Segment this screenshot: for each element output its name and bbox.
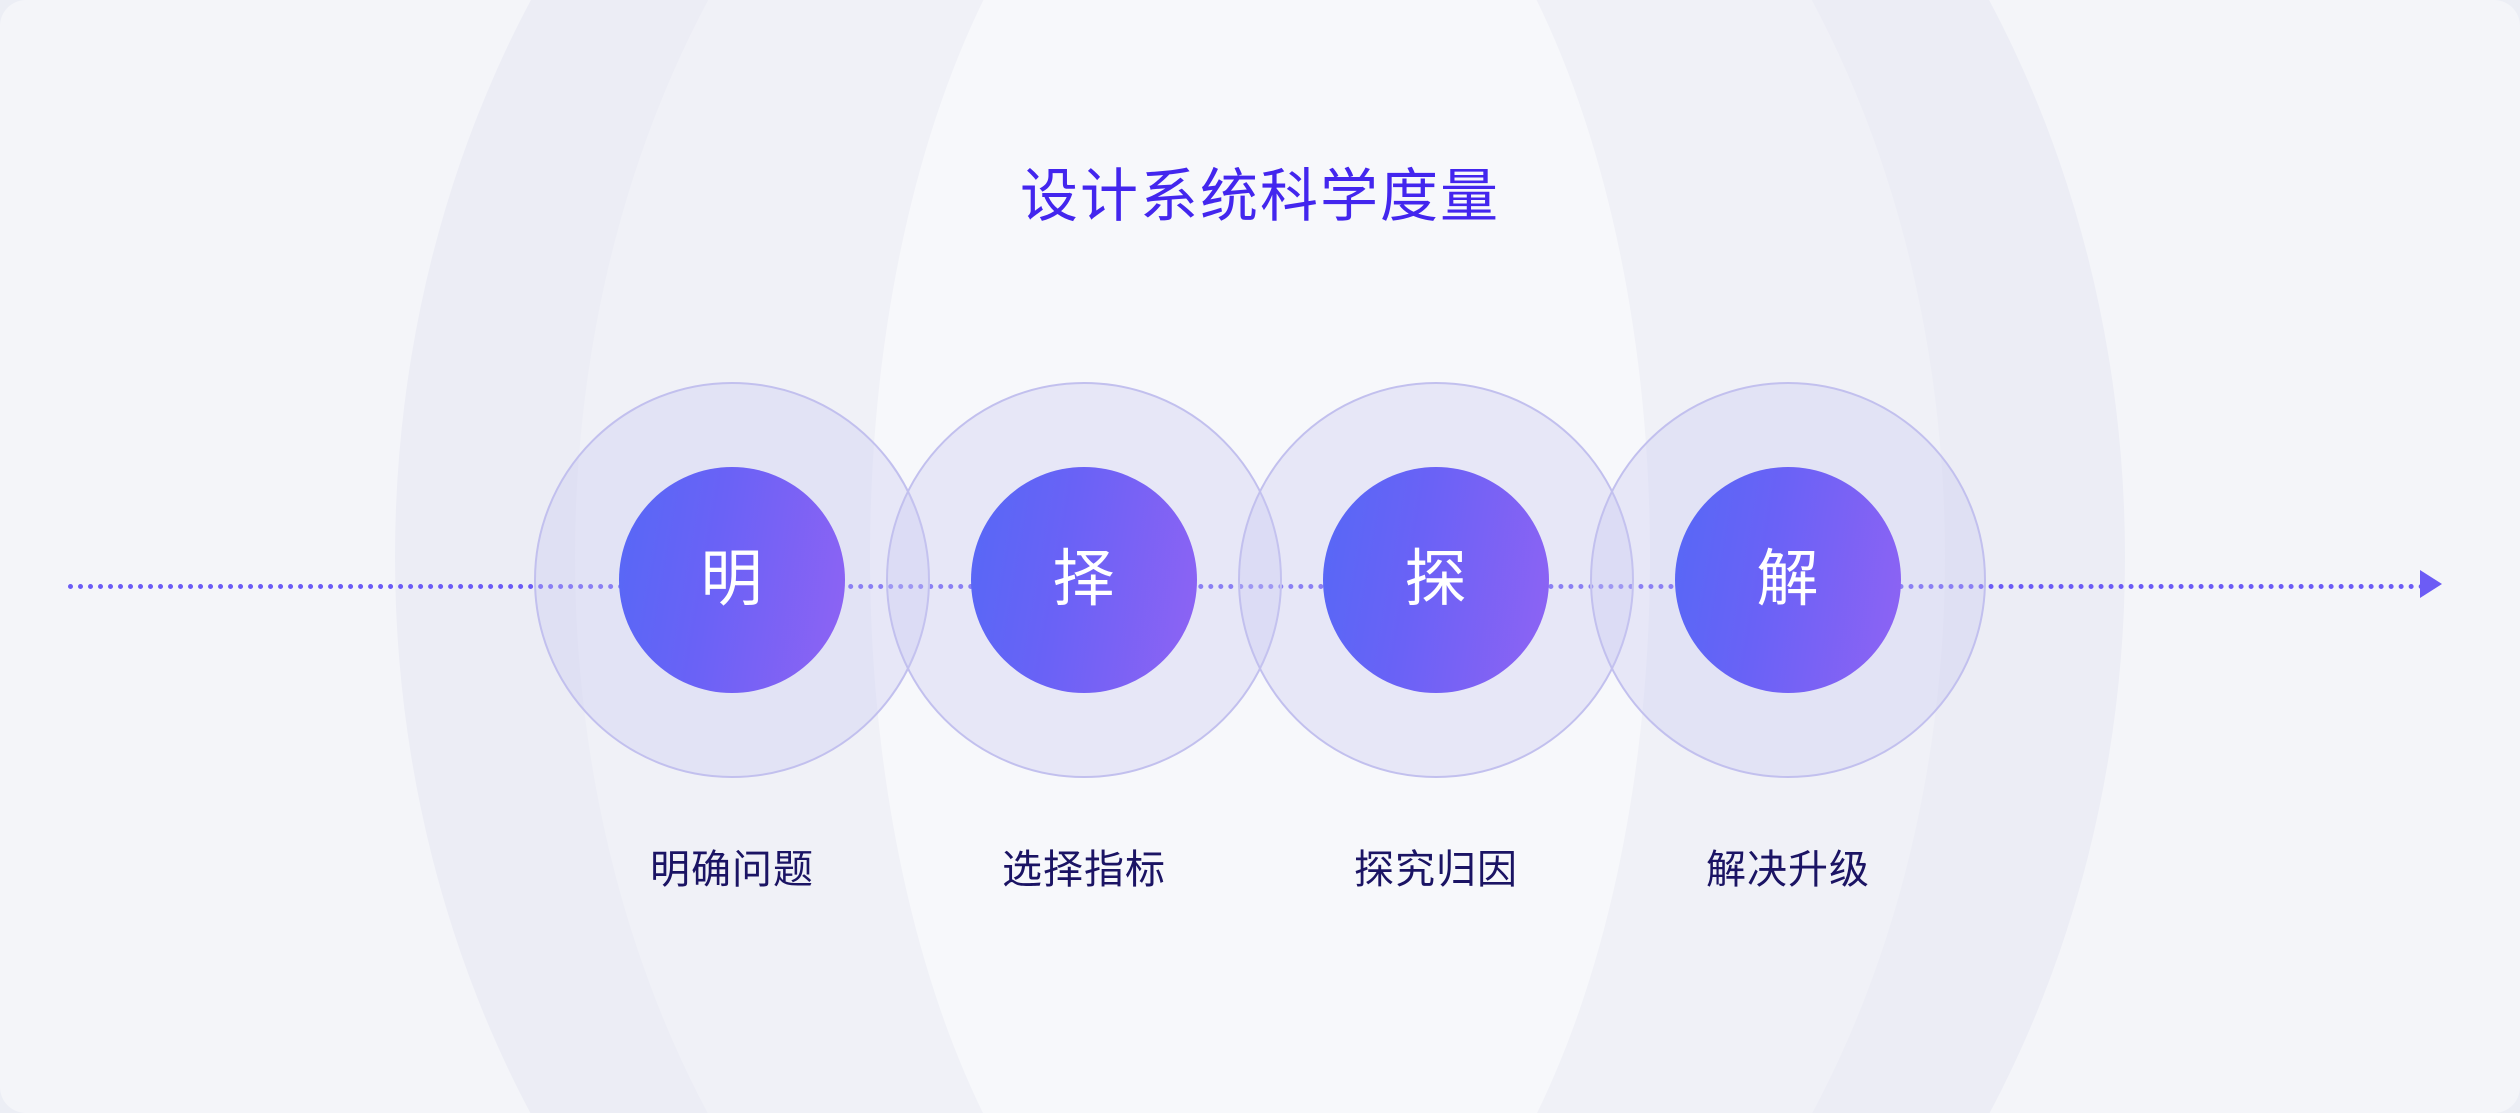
- stage-label-1: 明确问题: [534, 850, 930, 890]
- stage-label-3: 探究归因: [1238, 850, 1634, 890]
- stage-item-2[interactable]: 择: [886, 382, 1282, 778]
- stage-badge-circle: 择: [971, 467, 1197, 693]
- stage-char: 明: [700, 549, 763, 611]
- stage-list: 明 明确问题 择 选择指标 探 探究归因 解 解决升级: [0, 0, 2520, 1113]
- stage-item-3[interactable]: 探: [1238, 382, 1634, 778]
- stage-char: 解: [1756, 549, 1819, 611]
- stage-badge-circle: 明: [619, 467, 845, 693]
- stage-badge-circle: 解: [1675, 467, 1901, 693]
- stage-label-4: 解决升级: [1590, 850, 1986, 890]
- stage-item-1[interactable]: 明: [534, 382, 930, 778]
- stage-char: 探: [1404, 549, 1467, 611]
- stage-char: 择: [1052, 549, 1115, 611]
- stage-badge-circle: 探: [1323, 467, 1549, 693]
- stage-item-4[interactable]: 解: [1590, 382, 1986, 778]
- stage-label-2: 选择指标: [886, 850, 1282, 890]
- diagram-card: 设计系统科学度量 明 明确问题 择 选择指标 探 探究归因: [0, 0, 2520, 1113]
